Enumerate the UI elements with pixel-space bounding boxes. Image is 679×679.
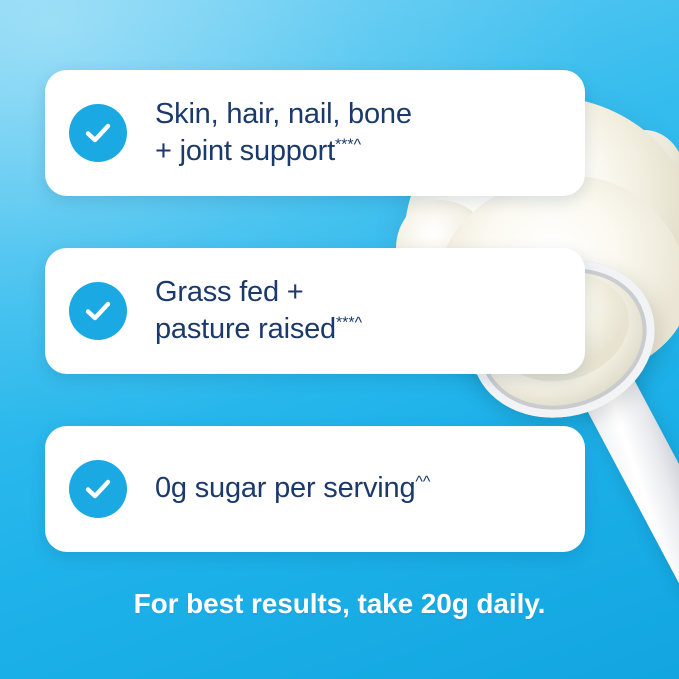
- check-icon: [69, 104, 127, 162]
- check-icon: [69, 282, 127, 340]
- benefit-line-1: 0g sugar per serving: [155, 472, 415, 504]
- benefit-line-1: Grass fed +: [155, 276, 304, 308]
- benefit-footnote-marker: ***^: [335, 136, 361, 153]
- benefit-card: Grass fed + pasture raised***^: [45, 248, 585, 374]
- benefit-card: 0g sugar per serving^^: [45, 426, 585, 552]
- benefit-line-2: + joint support: [155, 135, 335, 167]
- check-icon: [69, 460, 127, 518]
- footer-note: For best results, take 20g daily.: [0, 588, 679, 620]
- benefit-card-text: 0g sugar per serving^^: [155, 470, 430, 507]
- product-infographic: Skin, hair, nail, bone + joint support**…: [0, 0, 679, 679]
- powder-crumb: [600, 130, 679, 220]
- benefit-card-text: Grass fed + pasture raised***^: [155, 274, 362, 348]
- benefit-footnote-marker: ^^: [415, 474, 430, 491]
- benefit-card: Skin, hair, nail, bone + joint support**…: [45, 70, 585, 196]
- benefit-line-2: pasture raised: [155, 313, 336, 345]
- benefit-card-text: Skin, hair, nail, bone + joint support**…: [155, 96, 412, 170]
- benefit-footnote-marker: ***^: [336, 314, 362, 331]
- benefit-line-1: Skin, hair, nail, bone: [155, 98, 412, 130]
